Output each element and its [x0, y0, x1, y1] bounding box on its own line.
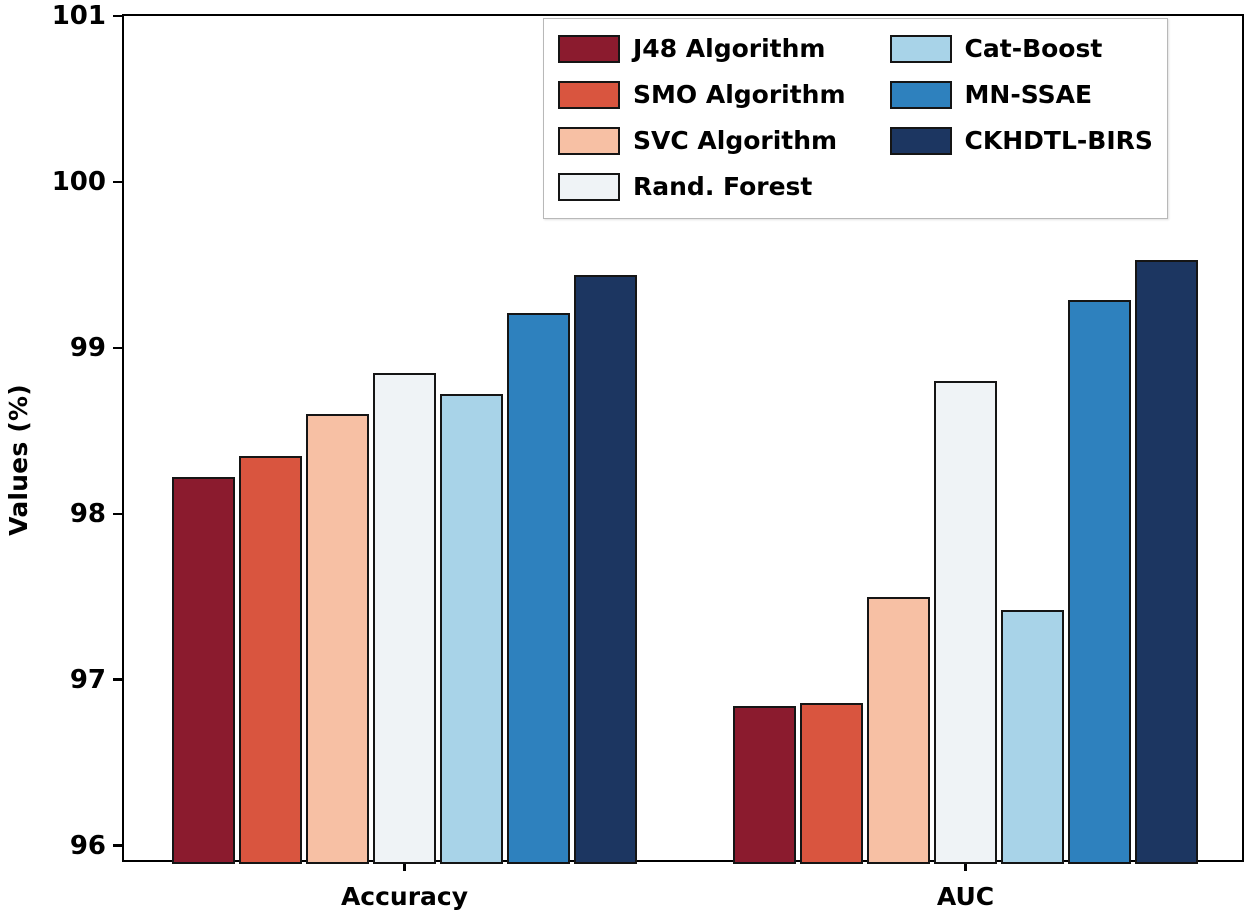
legend-item[interactable]: CKHDTL-BIRS [890, 120, 1153, 161]
y-tick-mark [113, 513, 124, 516]
y-axis-label: Values (%) [0, 0, 36, 920]
bar [172, 477, 235, 864]
bar [574, 275, 637, 864]
bar [239, 456, 302, 864]
y-tick-mark [113, 678, 124, 681]
x-tick-label: AUC [937, 882, 994, 911]
y-tick-label: 100 [52, 167, 106, 197]
chart-legend: J48 AlgorithmSMO AlgorithmSVC AlgorithmR… [543, 18, 1168, 219]
legend-swatch [558, 173, 620, 201]
y-tick-label: 96 [70, 831, 106, 861]
legend-label: CKHDTL-BIRS [965, 128, 1153, 153]
x-tick-label: Accuracy [341, 882, 468, 911]
legend-item[interactable]: J48 Algorithm [558, 28, 846, 69]
legend-swatch [558, 127, 620, 155]
y-tick-mark [113, 347, 124, 350]
legend-swatch [890, 127, 952, 155]
legend-label: SMO Algorithm [633, 82, 846, 107]
bar [507, 313, 570, 864]
y-tick-label: 101 [52, 1, 106, 31]
bar [306, 414, 369, 864]
bar [800, 703, 863, 864]
legend-label: SVC Algorithm [633, 128, 837, 153]
legend-label: J48 Algorithm [633, 36, 825, 61]
bar [1135, 260, 1198, 864]
legend-item[interactable]: Rand. Forest [558, 166, 846, 207]
legend-label: MN-SSAE [965, 82, 1093, 107]
y-tick-label: 99 [70, 333, 106, 363]
legend-item[interactable]: Cat-Boost [890, 28, 1153, 69]
legend-swatch [558, 81, 620, 109]
legend-column-right: Cat-BoostMN-SSAECKHDTL-BIRS [890, 28, 1153, 207]
legend-label: Rand. Forest [633, 174, 812, 199]
y-tick-mark [113, 844, 124, 847]
y-tick-mark [113, 15, 124, 18]
y-tick-mark [113, 181, 124, 184]
legend-swatch [890, 81, 952, 109]
legend-swatch [558, 35, 620, 63]
legend-item[interactable]: SVC Algorithm [558, 120, 846, 161]
y-tick-label: 97 [70, 665, 106, 695]
bar [1001, 610, 1064, 864]
legend-swatch [890, 35, 952, 63]
bar [867, 597, 930, 864]
bar [1068, 300, 1131, 864]
bar [934, 381, 997, 864]
bar-chart-figure: Values (%) 96979899100101 AccuracyAUC J4… [0, 0, 1250, 920]
legend-item[interactable]: SMO Algorithm [558, 74, 846, 115]
bar [440, 394, 503, 864]
legend-label: Cat-Boost [965, 36, 1103, 61]
bar [733, 706, 796, 864]
legend-column-left: J48 AlgorithmSMO AlgorithmSVC AlgorithmR… [558, 28, 846, 207]
bar [373, 373, 436, 864]
legend-item[interactable]: MN-SSAE [890, 74, 1153, 115]
y-tick-label: 98 [70, 499, 106, 529]
